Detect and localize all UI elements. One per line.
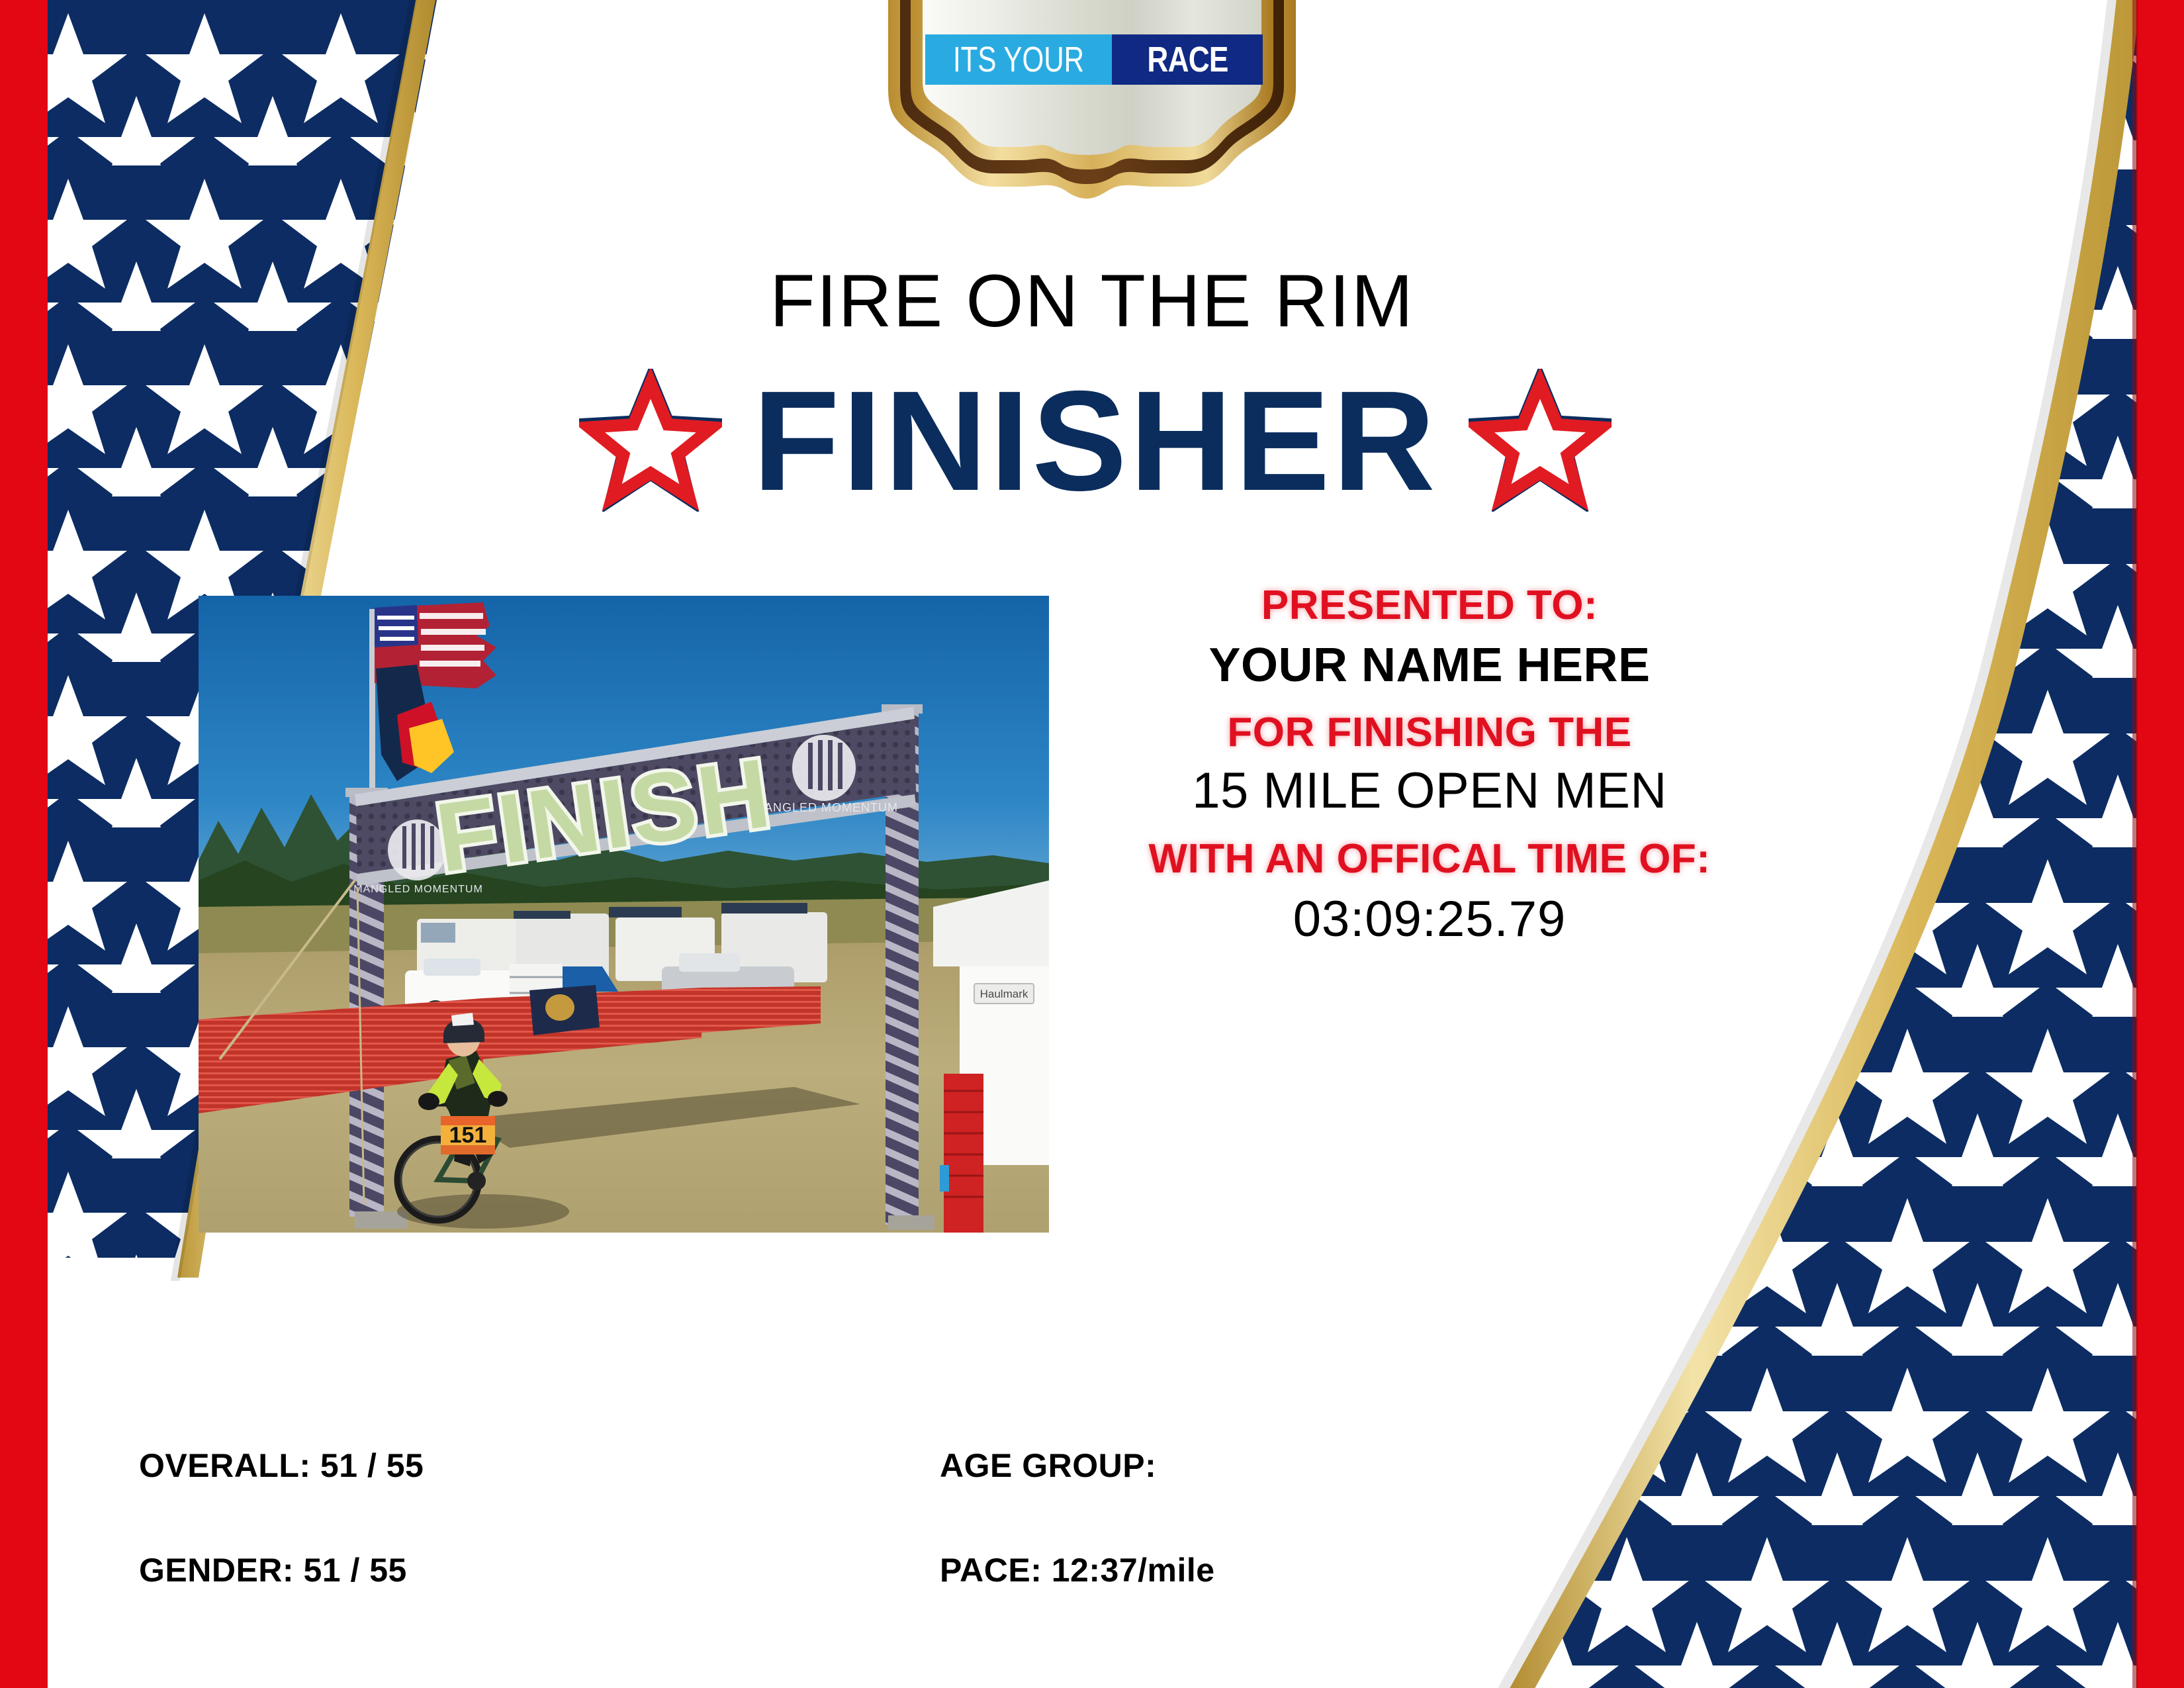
stats-row-2: GENDER: 51 / 55 PACE: 12:37/mile (139, 1551, 1396, 1589)
pace-value: PACE: 12:37/mile (940, 1552, 1215, 1589)
logo-race-block: RACE (1112, 34, 1263, 85)
for-finishing-label: FOR FINISHING THE (1072, 710, 1787, 755)
age-group-place: AGE GROUP: (940, 1447, 1156, 1484)
recipient-name: YOUR NAME HERE (1072, 639, 1787, 692)
official-time-label: WITH AN OFFICAL TIME OF: (1072, 836, 1787, 882)
svg-text:MANGLED MOMENTUM: MANGLED MOMENTUM (754, 801, 898, 814)
presented-to-label: PRESENTED TO: (1072, 583, 1787, 628)
finisher-certificate: ITS YOUR RACE FIRE ON THE RIM FINISHER (0, 0, 2184, 1688)
logo-its-your-block: ITS YOUR (925, 34, 1112, 85)
results-stats: OVERALL: 51 / 55 AGE GROUP: GENDER: 51 /… (139, 1446, 1396, 1656)
star-icon-left (579, 369, 722, 512)
age-group-cell: AGE GROUP: (940, 1446, 1396, 1485)
race-finish-photo: MANGLED MOMENTUM MANGLED MOMENTUM FINISH (199, 596, 1049, 1233)
its-your-race-logo-shield (875, 0, 1309, 207)
event-category: 15 MILE OPEN MEN (1072, 763, 1787, 819)
logo-its-your-text: ITS YOUR (953, 39, 1084, 80)
stats-row-1: OVERALL: 51 / 55 AGE GROUP: (139, 1446, 1396, 1485)
star-icon-right (1469, 369, 1612, 512)
svg-text:Haulmark: Haulmark (980, 988, 1028, 1000)
official-time-value: 03:09:25.79 (1072, 891, 1787, 947)
award-text-block: PRESENTED TO: YOUR NAME HERE FOR FINISHI… (1072, 583, 1787, 947)
overall-place: OVERALL: 51 / 55 (139, 1447, 424, 1484)
logo-race-text: RACE (1147, 39, 1228, 80)
pace-cell: PACE: 12:37/mile (940, 1551, 1396, 1589)
svg-text:151: 151 (449, 1123, 487, 1148)
finisher-headline-row: FINISHER (424, 354, 1767, 526)
gender-cell: GENDER: 51 / 55 (139, 1551, 940, 1589)
race-title: FIRE ON THE RIM (0, 258, 2184, 344)
its-your-race-wordmark: ITS YOUR RACE (925, 34, 1263, 85)
gender-place: GENDER: 51 / 55 (139, 1552, 407, 1589)
overall-cell: OVERALL: 51 / 55 (139, 1446, 940, 1485)
finisher-word: FINISHER (752, 369, 1437, 512)
